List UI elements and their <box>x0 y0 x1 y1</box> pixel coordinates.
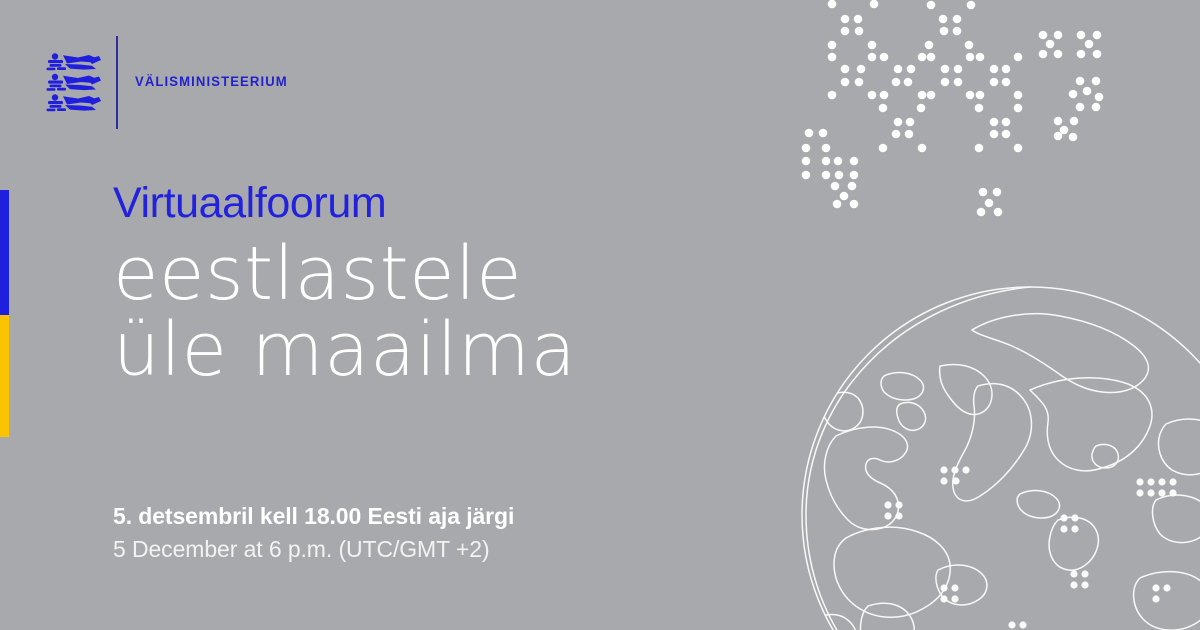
page-title: eestlastele üle maailma <box>113 239 753 387</box>
brand-lockup: VÄLISMINISTEERIUM <box>44 34 293 130</box>
event-kicker: Virtuaalfoorum <box>113 182 753 225</box>
page-title-line-2: üle maailma <box>113 315 753 387</box>
event-datetime-estonian: 5. detsembril kell 18.00 Eesti aja järgi <box>113 502 733 531</box>
organisation-name: VÄLISMINISTEERIUM <box>135 75 288 89</box>
page-title-line-1: eestlastele <box>113 239 753 311</box>
accent-bars <box>0 190 9 437</box>
headline-block: Virtuaalfoorum eestlastele üle maailma <box>113 182 753 387</box>
accent-bar-yellow <box>0 315 9 437</box>
event-datetime-english: 5 December at 6 p.m. (UTC/GMT +2) <box>113 535 733 564</box>
estonian-coat-of-arms-icon <box>44 51 102 113</box>
accent-bar-blue <box>0 190 9 315</box>
poster-canvas: VÄLISMINISTEERIUM Virtuaalfoorum eestlas… <box>0 0 1200 630</box>
brand-divider <box>116 36 118 129</box>
halftone-world-dot-pattern <box>790 0 1200 221</box>
event-datetime-block: 5. detsembril kell 18.00 Eesti aja järgi… <box>113 502 733 564</box>
